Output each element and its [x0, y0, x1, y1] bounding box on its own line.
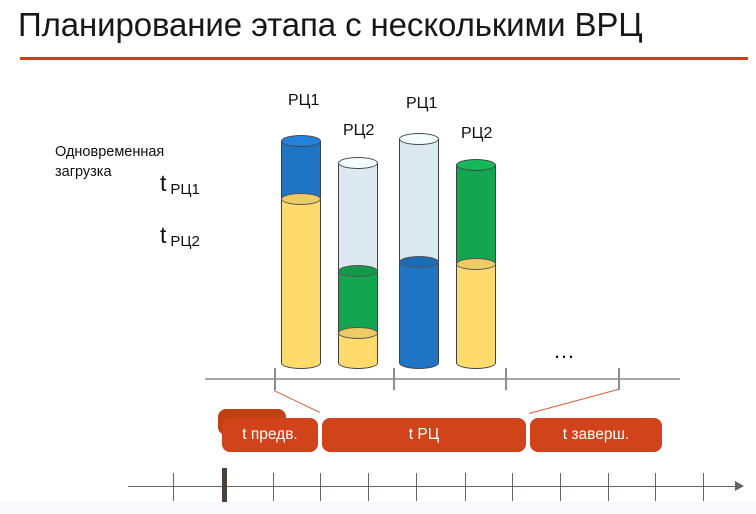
time-term-rc1: tРЦ1 — [160, 172, 200, 196]
cylinder-4-segment-yellow-load — [456, 264, 496, 363]
cylinder-2-segment-empty — [338, 163, 378, 271]
time-subscript: РЦ1 — [170, 181, 199, 198]
upper-timeline-axis — [205, 378, 680, 380]
bottom-strip — [0, 502, 756, 514]
phase-box-2[interactable]: t РЦ — [322, 418, 526, 452]
upper-tick-1 — [274, 368, 276, 390]
lower-tick-10 — [608, 473, 609, 501]
cylinder-3-segment-empty — [399, 139, 439, 262]
slide-canvas: Планирование этапа с несколькими ВРЦ Одн… — [0, 0, 756, 514]
lower-tick-marker-bold — [222, 468, 227, 504]
lower-tick-12 — [703, 473, 704, 501]
cylinder-2-cap-yellow-load — [338, 327, 378, 339]
upper-tick-4 — [618, 368, 620, 390]
cylinder-2-segment-yellow-load — [338, 333, 378, 363]
phase-box-3[interactable]: t заверш. — [530, 418, 662, 452]
lower-timeline-arrow-icon — [735, 481, 744, 491]
cylinder-1-cap-blue-load — [281, 135, 321, 147]
cylinder-2-cap-green-load — [338, 265, 378, 277]
cylinder-4 — [456, 165, 496, 363]
lower-tick-9 — [560, 473, 561, 501]
cylinder-4-cap-yellow-load — [456, 258, 496, 270]
cylinder-2 — [338, 163, 378, 363]
upper-tick-3 — [505, 368, 507, 390]
cylinder-4-segment-green-load — [456, 165, 496, 264]
time-symbol: t — [160, 170, 166, 196]
cylinder-4-cap-green-load — [456, 159, 496, 171]
phase-box-1[interactable]: t предв. — [222, 418, 318, 452]
lower-tick-7 — [465, 473, 466, 501]
cylinder-1-segment-blue-load — [281, 141, 321, 199]
connector-line-2 — [529, 389, 618, 414]
ellipsis-continuation: … — [553, 340, 577, 362]
upper-tick-2 — [393, 368, 395, 390]
cylinder-1 — [281, 141, 321, 363]
lower-timeline-axis — [128, 486, 738, 487]
cylinder-label-3: РЦ1 — [406, 95, 437, 113]
time-subscript: РЦ2 — [170, 233, 199, 250]
page-title: Планирование этапа с несколькими ВРЦ — [18, 4, 748, 46]
time-symbol: t — [160, 222, 166, 248]
cylinder-1-cap-yellow-load — [281, 193, 321, 205]
cylinder-2-cap-empty — [338, 157, 378, 169]
cylinder-1-segment-yellow-load — [281, 199, 321, 363]
cylinder-label-1: РЦ1 — [288, 92, 319, 110]
cylinder-3-segment-blue-load — [399, 262, 439, 363]
lower-tick-11 — [655, 473, 656, 501]
cylinder-3-cap-blue-load — [399, 256, 439, 268]
title-underline-rule — [20, 57, 748, 60]
lower-tick-1 — [173, 473, 174, 501]
time-term-rc2: tРЦ2 — [160, 224, 200, 248]
lower-tick-8 — [512, 473, 513, 501]
cylinder-3 — [399, 139, 439, 363]
cylinder-3-cap-empty — [399, 133, 439, 145]
lower-tick-4 — [320, 473, 321, 501]
cylinder-label-2: РЦ2 — [343, 122, 374, 140]
lower-tick-6 — [416, 473, 417, 501]
lower-tick-5 — [368, 473, 369, 501]
cylinder-2-segment-green-load — [338, 271, 378, 333]
cylinder-label-4: РЦ2 — [461, 125, 492, 143]
lower-tick-3 — [273, 473, 274, 501]
